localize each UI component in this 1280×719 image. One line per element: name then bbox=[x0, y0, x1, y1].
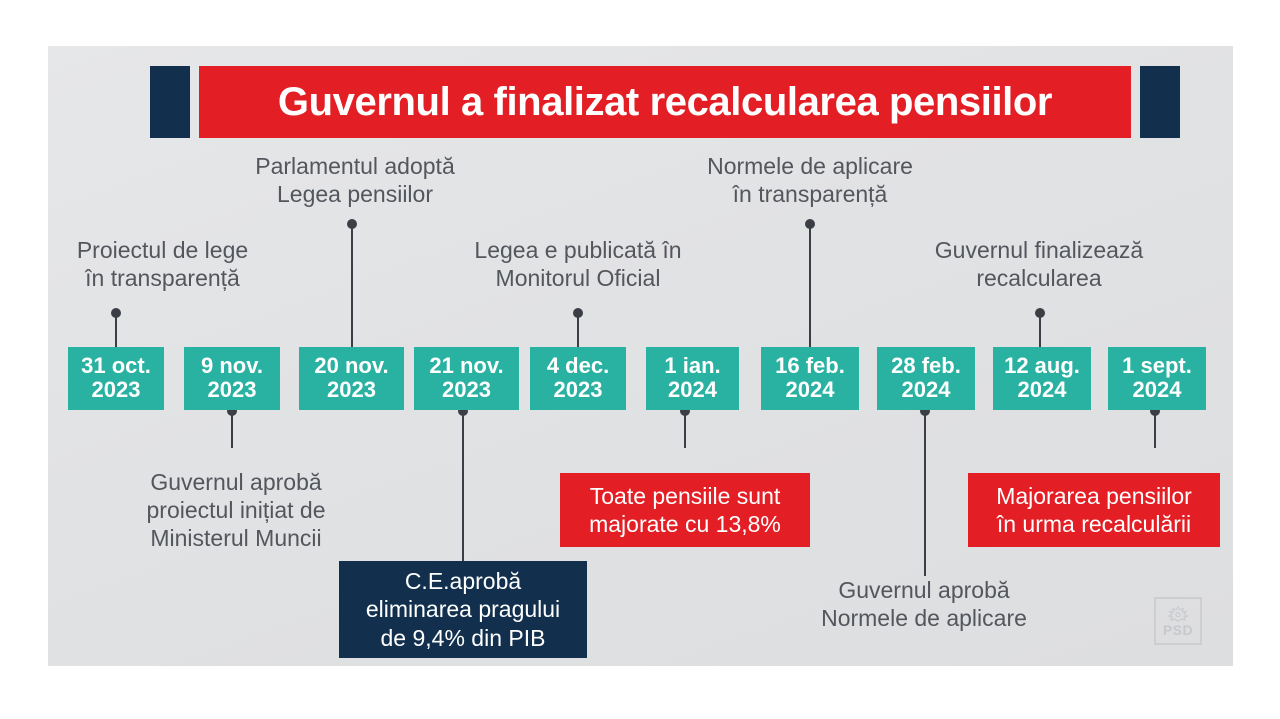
psd-crest-icon bbox=[1167, 606, 1189, 622]
connector-line-normele-de-aplicare-in-transparenta bbox=[809, 224, 811, 348]
chip-day-label: 28 feb. bbox=[891, 354, 961, 378]
chip-day-label: 31 oct. bbox=[81, 354, 151, 378]
timeline-date-chip[interactable]: 28 feb.2024 bbox=[877, 347, 975, 410]
psd-logo-watermark: PSD bbox=[1154, 597, 1202, 645]
connector-line-guvernul-finalizeaza-recalcularea bbox=[1039, 313, 1041, 349]
page-title: Guvernul a finalizat recalcularea pensii… bbox=[278, 82, 1052, 122]
timeline-date-chip[interactable]: 31 oct.2023 bbox=[68, 347, 164, 410]
annotation-guvernul-aproba-proiectul-ministerul-muncii: Guvernul aprobă proiectul inițiat de Min… bbox=[117, 468, 355, 552]
chip-day-label: 12 aug. bbox=[1004, 354, 1080, 378]
annotation-legea-publicata-monitorul-oficial: Legea e publicată în Monitorul Oficial bbox=[452, 236, 704, 292]
chip-day-label: 1 ian. bbox=[664, 354, 720, 378]
chip-year-label: 2024 bbox=[786, 378, 835, 402]
callout-ce-aproba-eliminarea-pragului[interactable]: C.E.aprobă eliminarea pragului de 9,4% d… bbox=[339, 561, 587, 658]
callout-majorarea-pensiilor-in-urma-recalcularii[interactable]: Majorarea pensiilor în urma recalculării bbox=[968, 473, 1220, 547]
connector-line-ce-aproba-eliminarea-pragului bbox=[462, 411, 464, 563]
chip-year-label: 2024 bbox=[1018, 378, 1067, 402]
connector-line-majorarea-pensiilor-in-urma-recalcularii bbox=[1154, 411, 1156, 448]
chip-day-label: 9 nov. bbox=[201, 354, 263, 378]
chip-year-label: 2023 bbox=[327, 378, 376, 402]
annotation-parlamentul-adopta-legea-pensiilor: Parlamentul adoptă Legea pensiilor bbox=[231, 152, 479, 208]
timeline-date-chip[interactable]: 20 nov.2023 bbox=[299, 347, 404, 410]
title-cap-left-decoration bbox=[150, 66, 190, 138]
chip-year-label: 2023 bbox=[92, 378, 141, 402]
title-banner: Guvernul a finalizat recalcularea pensii… bbox=[199, 66, 1131, 138]
connector-dot-legea-publicata-monitorul-oficial bbox=[573, 308, 583, 318]
psd-logo-text: PSD bbox=[1163, 623, 1193, 637]
chip-day-label: 16 feb. bbox=[775, 354, 845, 378]
chip-year-label: 2023 bbox=[442, 378, 491, 402]
connector-dot-guvernul-finalizeaza-recalcularea bbox=[1035, 308, 1045, 318]
connector-line-guvernul-aproba-normele-de-aplicare bbox=[924, 411, 926, 576]
chip-year-label: 2024 bbox=[668, 378, 717, 402]
connector-dot-proiectul-de-lege-in-transparenta bbox=[111, 308, 121, 318]
chip-year-label: 2024 bbox=[1133, 378, 1182, 402]
chip-day-label: 1 sept. bbox=[1122, 354, 1192, 378]
annotation-guvernul-finalizeaza-recalcularea: Guvernul finalizează recalcularea bbox=[898, 236, 1180, 292]
connector-line-proiectul-de-lege-in-transparenta bbox=[115, 313, 117, 349]
timeline-date-chip[interactable]: 21 nov.2023 bbox=[414, 347, 519, 410]
chip-year-label: 2023 bbox=[208, 378, 257, 402]
chip-day-label: 21 nov. bbox=[429, 354, 503, 378]
timeline-date-chip[interactable]: 12 aug.2024 bbox=[993, 347, 1091, 410]
annotation-guvernul-aproba-normele-de-aplicare: Guvernul aprobă Normele de aplicare bbox=[798, 576, 1050, 632]
timeline-date-chip[interactable]: 16 feb.2024 bbox=[761, 347, 859, 410]
connector-line-guvernul-aproba-proiectul-ministerul-muncii bbox=[231, 411, 233, 448]
chip-day-label: 20 nov. bbox=[314, 354, 388, 378]
chip-year-label: 2024 bbox=[902, 378, 951, 402]
timeline-date-chip[interactable]: 9 nov.2023 bbox=[184, 347, 280, 410]
title-cap-right-decoration bbox=[1140, 66, 1180, 138]
annotation-proiectul-de-lege-in-transparenta: Proiectul de lege în transparență bbox=[55, 236, 270, 292]
connector-dot-parlamentul-adopta-legea-pensiilor bbox=[347, 219, 357, 229]
timeline-date-chip[interactable]: 4 dec.2023 bbox=[530, 347, 626, 410]
timeline-date-chip[interactable]: 1 sept.2024 bbox=[1108, 347, 1206, 410]
annotation-normele-de-aplicare-in-transparenta: Normele de aplicare în transparență bbox=[684, 152, 936, 208]
chip-day-label: 4 dec. bbox=[547, 354, 609, 378]
connector-line-toate-pensiile-majorate-13-8 bbox=[684, 411, 686, 448]
chip-year-label: 2023 bbox=[554, 378, 603, 402]
infographic-root: Guvernul a finalizat recalcularea pensii… bbox=[0, 0, 1280, 719]
connector-line-legea-publicata-monitorul-oficial bbox=[577, 313, 579, 349]
connector-dot-normele-de-aplicare-in-transparenta bbox=[805, 219, 815, 229]
timeline-date-chip[interactable]: 1 ian.2024 bbox=[646, 347, 739, 410]
title-bar: Guvernul a finalizat recalcularea pensii… bbox=[150, 66, 1180, 138]
connector-line-parlamentul-adopta-legea-pensiilor bbox=[351, 224, 353, 348]
callout-toate-pensiile-majorate-13-8[interactable]: Toate pensiile sunt majorate cu 13,8% bbox=[560, 473, 810, 547]
